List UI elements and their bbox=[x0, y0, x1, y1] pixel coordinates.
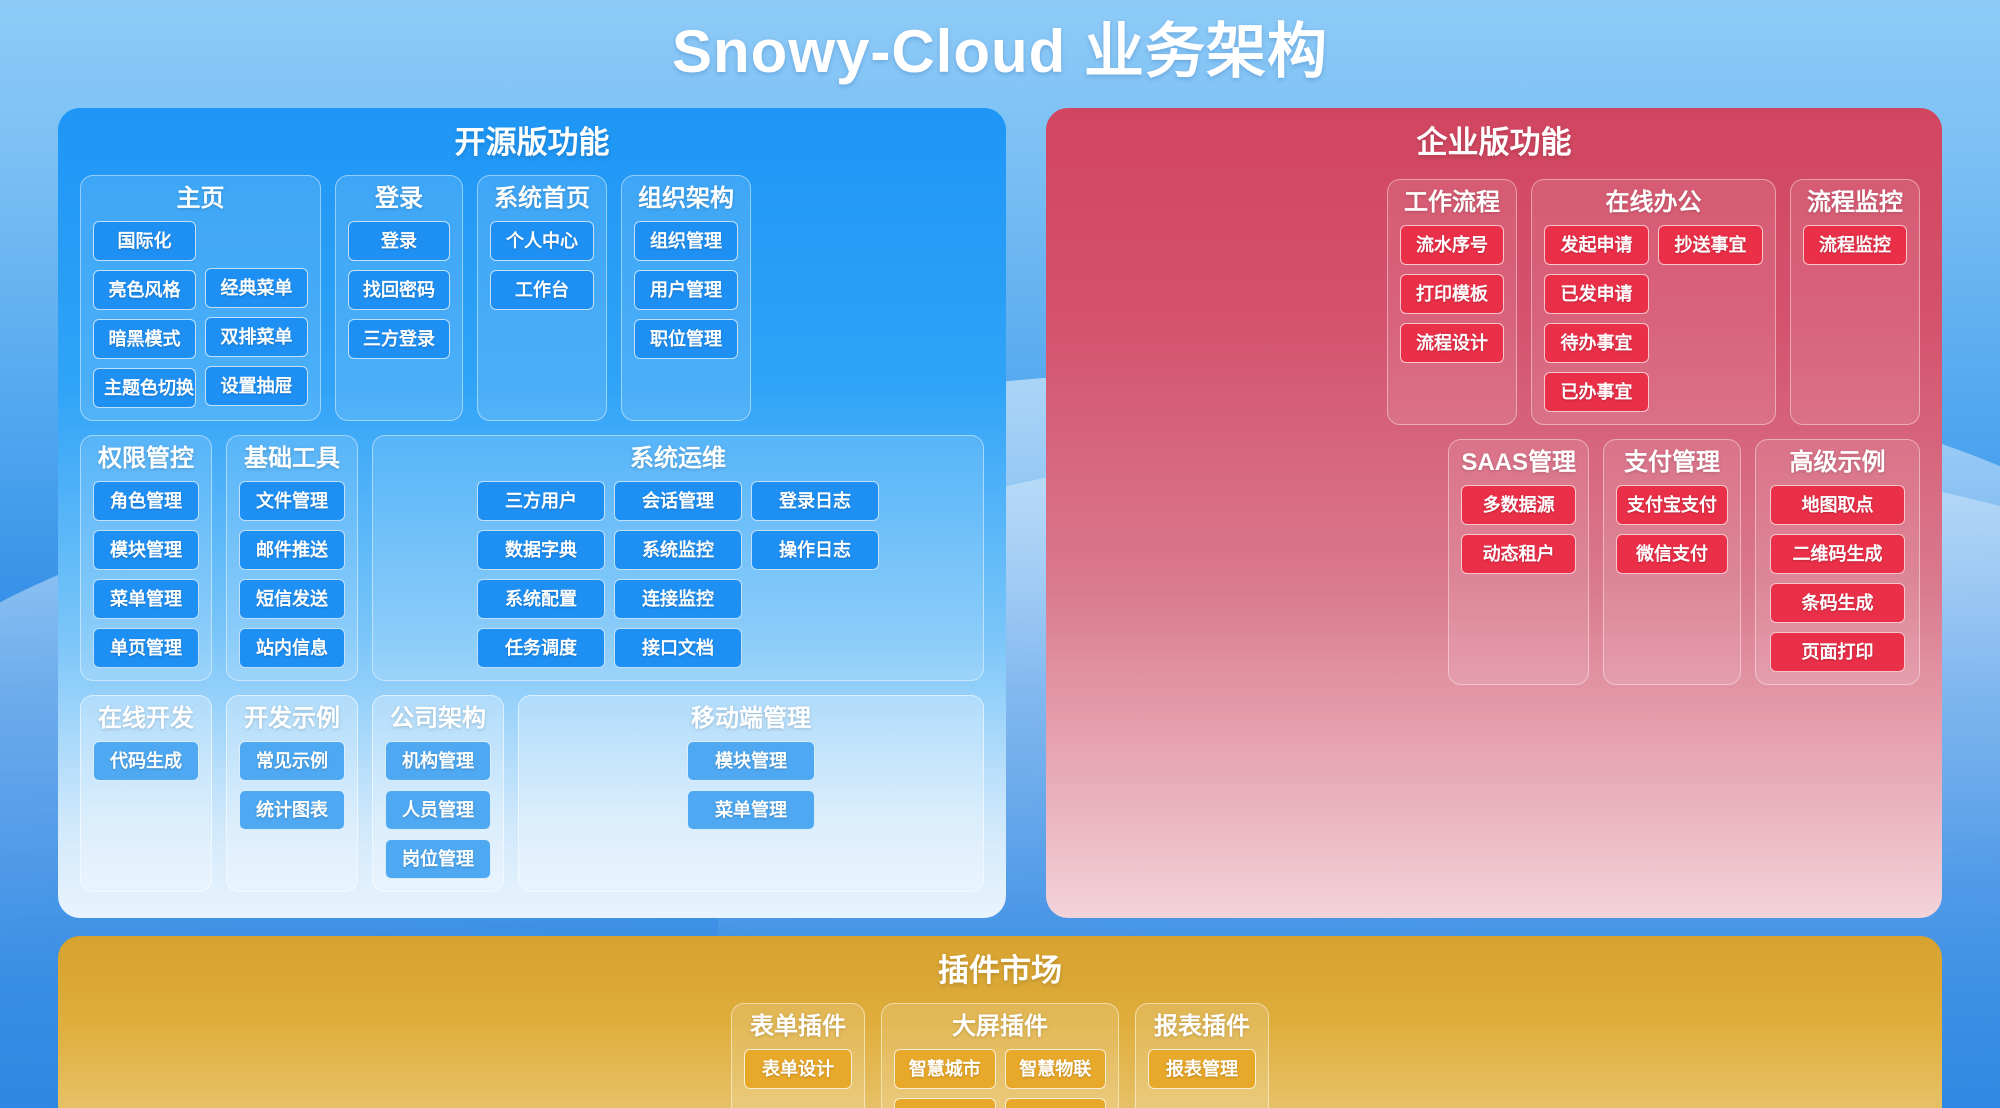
group-system-home[interactable]: 系统首页 个人中心 工作台 bbox=[477, 175, 607, 421]
group-permission-control[interactable]: 权限管控 角色管理 模块管理 菜单管理 单页管理 bbox=[80, 435, 212, 681]
page-title: Snowy-Cloud 业务架构 bbox=[0, 0, 2000, 82]
group-form-plugin-col-1: 表单设计 bbox=[744, 1049, 852, 1108]
top-panels-row: 开源版功能 主页 国际化 亮色风格 暗黑模式 主题色切换 bbox=[58, 108, 1942, 918]
item-internal-message[interactable]: 站内信息 bbox=[239, 628, 345, 668]
item-post-management[interactable]: 岗位管理 bbox=[385, 839, 491, 879]
group-online-development-title: 在线开发 bbox=[93, 703, 199, 734]
enterprise-row-1: 工作流程 流水序号 打印模板 流程设计 在线办公 bbox=[1068, 179, 1920, 425]
plugin-market-panel: 插件市场 表单插件 表单设计 大屏插件 智慧城市 智慧交通 bbox=[58, 936, 1942, 1108]
item-print-template[interactable]: 打印模板 bbox=[1400, 274, 1504, 314]
item-serial-number[interactable]: 流水序号 bbox=[1400, 225, 1504, 265]
group-saas-management[interactable]: SAAS管理 多数据源 动态租户 bbox=[1448, 439, 1589, 685]
enterprise-row-2: SAAS管理 多数据源 动态租户 支付管理 bbox=[1068, 439, 1920, 685]
group-payment-management[interactable]: 支付管理 支付宝支付 微信支付 bbox=[1603, 439, 1741, 685]
plugin-market-groups: 表单插件 表单设计 大屏插件 智慧城市 智慧交通 智慧医疗 bbox=[80, 1003, 1920, 1108]
item-data-dictionary[interactable]: 数据字典 bbox=[477, 530, 605, 570]
item-dynamic-tenant[interactable]: 动态租户 bbox=[1461, 534, 1576, 574]
item-workbench[interactable]: 工作台 bbox=[490, 270, 594, 310]
group-process-monitor-title: 流程监控 bbox=[1803, 187, 1907, 218]
group-company-structure[interactable]: 公司架构 机构管理 人员管理 岗位管理 bbox=[372, 695, 504, 892]
group-login-col-1: 登录 找回密码 三方登录 bbox=[348, 221, 450, 408]
item-qr-code-generation[interactable]: 二维码生成 bbox=[1770, 534, 1905, 574]
item-position-management[interactable]: 职位管理 bbox=[634, 319, 738, 359]
plugin-market-title: 插件市场 bbox=[80, 952, 1920, 991]
group-saas-management-title: SAAS管理 bbox=[1461, 447, 1576, 478]
item-mobile-module-management[interactable]: 模块管理 bbox=[687, 741, 815, 781]
open-source-row-1: 主页 国际化 亮色风格 暗黑模式 主题色切换 经典菜单 双排菜单 bbox=[80, 175, 984, 421]
group-bigscreen-plugin-col-1: 智慧城市 智慧交通 智慧医疗 智慧政务 bbox=[894, 1049, 996, 1108]
group-home-col-1: 国际化 亮色风格 暗黑模式 主题色切换 bbox=[93, 221, 196, 408]
item-session-management[interactable]: 会话管理 bbox=[614, 481, 742, 521]
open-source-panel-title: 开源版功能 bbox=[80, 124, 984, 163]
item-operation-log[interactable]: 操作日志 bbox=[751, 530, 879, 570]
item-connection-monitor[interactable]: 连接监控 bbox=[614, 579, 742, 619]
group-bigscreen-plugin[interactable]: 大屏插件 智慧城市 智慧交通 智慧医疗 智慧政务 智慧物联 智慧电商 智慧运维 bbox=[881, 1003, 1119, 1108]
item-initiate-application[interactable]: 发起申请 bbox=[1544, 225, 1649, 265]
group-basic-tools[interactable]: 基础工具 文件管理 邮件推送 短信发送 站内信息 bbox=[226, 435, 358, 681]
group-home-col-2: 经典菜单 双排菜单 设置抽屉 bbox=[205, 268, 308, 408]
group-organization[interactable]: 组织架构 组织管理 用户管理 职位管理 bbox=[621, 175, 751, 421]
enterprise-panel: 企业版功能 工作流程 流水序号 打印模板 流程设计 bbox=[1046, 108, 1942, 918]
group-mobile-management-title: 移动端管理 bbox=[531, 703, 971, 734]
item-role-management[interactable]: 角色管理 bbox=[93, 481, 199, 521]
group-process-monitor-col-1: 流程监控 bbox=[1803, 225, 1907, 412]
item-statistical-charts[interactable]: 统计图表 bbox=[239, 790, 345, 830]
item-personnel-management[interactable]: 人员管理 bbox=[385, 790, 491, 830]
group-process-monitor[interactable]: 流程监控 流程监控 bbox=[1790, 179, 1920, 425]
group-system-ops[interactable]: 系统运维 三方用户 数据字典 系统配置 任务调度 会话管理 系统监控 bbox=[372, 435, 984, 681]
item-api-document[interactable]: 接口文档 bbox=[614, 628, 742, 668]
architecture-diagram: Snowy-Cloud 业务架构 开源版功能 主页 国际化 亮色风格 暗黑模式 bbox=[0, 0, 2000, 1108]
item-smart-transport[interactable]: 智慧交通 bbox=[894, 1098, 996, 1108]
item-classic-menu[interactable]: 经典菜单 bbox=[205, 268, 308, 308]
item-personal-center[interactable]: 个人中心 bbox=[490, 221, 594, 261]
item-settings-drawer[interactable]: 设置抽屉 bbox=[205, 366, 308, 406]
group-advanced-examples[interactable]: 高级示例 地图取点 二维码生成 条码生成 页面打印 bbox=[1755, 439, 1920, 685]
item-alipay-payment[interactable]: 支付宝支付 bbox=[1616, 485, 1728, 525]
item-report-management[interactable]: 报表管理 bbox=[1148, 1049, 1256, 1089]
item-map-point-picker[interactable]: 地图取点 bbox=[1770, 485, 1905, 525]
item-sms-send[interactable]: 短信发送 bbox=[239, 579, 345, 619]
item-internationalization[interactable]: 国际化 bbox=[93, 221, 196, 261]
group-organization-col-1: 组织管理 用户管理 职位管理 bbox=[634, 221, 738, 408]
group-advanced-examples-title: 高级示例 bbox=[1768, 447, 1907, 478]
group-report-plugin[interactable]: 报表插件 报表管理 bbox=[1135, 1003, 1269, 1108]
group-system-ops-col-3: 登录日志 操作日志 bbox=[751, 481, 879, 668]
group-permission-col-1: 角色管理 模块管理 菜单管理 单页管理 bbox=[93, 481, 199, 668]
item-common-examples[interactable]: 常见示例 bbox=[239, 741, 345, 781]
group-login[interactable]: 登录 登录 找回密码 三方登录 bbox=[335, 175, 463, 421]
group-system-ops-col-2: 会话管理 系统监控 连接监控 接口文档 bbox=[614, 481, 742, 668]
item-code-generation[interactable]: 代码生成 bbox=[93, 741, 199, 781]
group-permission-control-title: 权限管控 bbox=[93, 443, 199, 474]
open-source-row-3: 在线开发 代码生成 开发示例 常见示例 统计图表 bbox=[80, 695, 984, 892]
group-bigscreen-plugin-col-2: 智慧物联 智慧电商 智慧运维 智慧金融 bbox=[1005, 1049, 1107, 1108]
group-home-title: 主页 bbox=[93, 183, 308, 214]
item-barcode-generation[interactable]: 条码生成 bbox=[1770, 583, 1905, 623]
group-online-development[interactable]: 在线开发 代码生成 bbox=[80, 695, 212, 892]
item-cc-tasks[interactable]: 抄送事宜 bbox=[1658, 225, 1763, 265]
item-institution-management[interactable]: 机构管理 bbox=[385, 741, 491, 781]
group-organization-title: 组织架构 bbox=[634, 183, 738, 214]
group-advanced-examples-col-1: 地图取点 二维码生成 条码生成 页面打印 bbox=[1770, 485, 1905, 672]
item-light-style[interactable]: 亮色风格 bbox=[93, 270, 196, 310]
group-online-office-col-1: 发起申请 已发申请 待办事宜 已办事宜 bbox=[1544, 225, 1649, 412]
item-sent-application[interactable]: 已发申请 bbox=[1544, 274, 1649, 314]
group-online-office[interactable]: 在线办公 发起申请 已发申请 待办事宜 已办事宜 抄送事宜 bbox=[1531, 179, 1776, 425]
group-development-examples[interactable]: 开发示例 常见示例 统计图表 bbox=[226, 695, 358, 892]
group-work-flow-col-1: 流水序号 打印模板 流程设计 bbox=[1400, 225, 1504, 412]
group-report-plugin-col-1: 报表管理 bbox=[1148, 1049, 1256, 1108]
group-work-flow-title: 工作流程 bbox=[1400, 187, 1504, 218]
group-saas-management-col-1: 多数据源 动态租户 bbox=[1461, 485, 1576, 672]
item-single-page-management[interactable]: 单页管理 bbox=[93, 628, 199, 668]
item-page-print[interactable]: 页面打印 bbox=[1770, 632, 1905, 672]
item-menu-management[interactable]: 菜单管理 bbox=[93, 579, 199, 619]
open-source-panel: 开源版功能 主页 国际化 亮色风格 暗黑模式 主题色切换 bbox=[58, 108, 1006, 918]
item-user-management[interactable]: 用户管理 bbox=[634, 270, 738, 310]
item-multi-datasource[interactable]: 多数据源 bbox=[1461, 485, 1576, 525]
item-completed-tasks[interactable]: 已办事宜 bbox=[1544, 372, 1649, 412]
item-login[interactable]: 登录 bbox=[348, 221, 450, 261]
diagram-board: 开源版功能 主页 国际化 亮色风格 暗黑模式 主题色切换 bbox=[58, 108, 1942, 1108]
group-online-office-title: 在线办公 bbox=[1544, 187, 1763, 218]
item-email-push[interactable]: 邮件推送 bbox=[239, 530, 345, 570]
group-system-ops-title: 系统运维 bbox=[385, 443, 971, 474]
group-home[interactable]: 主页 国际化 亮色风格 暗黑模式 主题色切换 经典菜单 双排菜单 bbox=[80, 175, 321, 421]
group-company-structure-col-1: 机构管理 人员管理 岗位管理 bbox=[385, 741, 491, 879]
enterprise-row-1-spacer bbox=[1068, 179, 1373, 425]
enterprise-panel-title: 企业版功能 bbox=[1068, 124, 1920, 163]
group-basic-tools-title: 基础工具 bbox=[239, 443, 345, 474]
group-login-title: 登录 bbox=[348, 183, 450, 214]
item-dark-mode[interactable]: 暗黑模式 bbox=[93, 319, 196, 359]
item-file-management[interactable]: 文件管理 bbox=[239, 481, 345, 521]
group-company-structure-title: 公司架构 bbox=[385, 703, 491, 734]
group-system-home-col-1: 个人中心 工作台 bbox=[490, 221, 594, 408]
group-form-plugin[interactable]: 表单插件 表单设计 bbox=[731, 1003, 865, 1108]
group-system-ops-col-1: 三方用户 数据字典 系统配置 任务调度 bbox=[477, 481, 605, 668]
item-theme-color-switch[interactable]: 主题色切换 bbox=[93, 368, 196, 408]
enterprise-row-2-spacer bbox=[1068, 439, 1434, 685]
group-payment-management-col-1: 支付宝支付 微信支付 bbox=[1616, 485, 1728, 672]
item-org-management[interactable]: 组织管理 bbox=[634, 221, 738, 261]
open-source-row-2: 权限管控 角色管理 模块管理 菜单管理 单页管理 基础工具 bbox=[80, 435, 984, 681]
item-smart-ecommerce[interactable]: 智慧电商 bbox=[1005, 1098, 1107, 1108]
item-mobile-menu-management[interactable]: 菜单管理 bbox=[687, 790, 815, 830]
item-system-config[interactable]: 系统配置 bbox=[477, 579, 605, 619]
group-development-examples-col-1: 常见示例 统计图表 bbox=[239, 741, 345, 879]
item-smart-city[interactable]: 智慧城市 bbox=[894, 1049, 996, 1089]
group-online-development-col-1: 代码生成 bbox=[93, 741, 199, 879]
item-third-party-user[interactable]: 三方用户 bbox=[477, 481, 605, 521]
item-process-monitor[interactable]: 流程监控 bbox=[1803, 225, 1907, 265]
item-task-schedule[interactable]: 任务调度 bbox=[477, 628, 605, 668]
item-pending-tasks[interactable]: 待办事宜 bbox=[1544, 323, 1649, 363]
item-module-management[interactable]: 模块管理 bbox=[93, 530, 199, 570]
group-development-examples-title: 开发示例 bbox=[239, 703, 345, 734]
group-mobile-management[interactable]: 移动端管理 模块管理 菜单管理 bbox=[518, 695, 984, 892]
item-retrieve-password[interactable]: 找回密码 bbox=[348, 270, 450, 310]
item-third-party-login[interactable]: 三方登录 bbox=[348, 319, 450, 359]
group-system-home-title: 系统首页 bbox=[490, 183, 594, 214]
item-double-row-menu[interactable]: 双排菜单 bbox=[205, 317, 308, 357]
group-online-office-col-2: 抄送事宜 bbox=[1658, 225, 1763, 412]
group-work-flow[interactable]: 工作流程 流水序号 打印模板 流程设计 bbox=[1387, 179, 1517, 425]
group-basic-tools-col-1: 文件管理 邮件推送 短信发送 站内信息 bbox=[239, 481, 345, 668]
item-form-designer[interactable]: 表单设计 bbox=[744, 1049, 852, 1089]
group-payment-management-title: 支付管理 bbox=[1616, 447, 1728, 478]
item-process-design[interactable]: 流程设计 bbox=[1400, 323, 1504, 363]
group-mobile-management-col-1: 模块管理 菜单管理 bbox=[687, 741, 815, 879]
group-bigscreen-plugin-title: 大屏插件 bbox=[894, 1011, 1106, 1042]
item-system-monitor[interactable]: 系统监控 bbox=[614, 530, 742, 570]
item-login-log[interactable]: 登录日志 bbox=[751, 481, 879, 521]
item-smart-iot[interactable]: 智慧物联 bbox=[1005, 1049, 1107, 1089]
group-report-plugin-title: 报表插件 bbox=[1148, 1011, 1256, 1042]
item-wechat-payment[interactable]: 微信支付 bbox=[1616, 534, 1728, 574]
group-form-plugin-title: 表单插件 bbox=[744, 1011, 852, 1042]
